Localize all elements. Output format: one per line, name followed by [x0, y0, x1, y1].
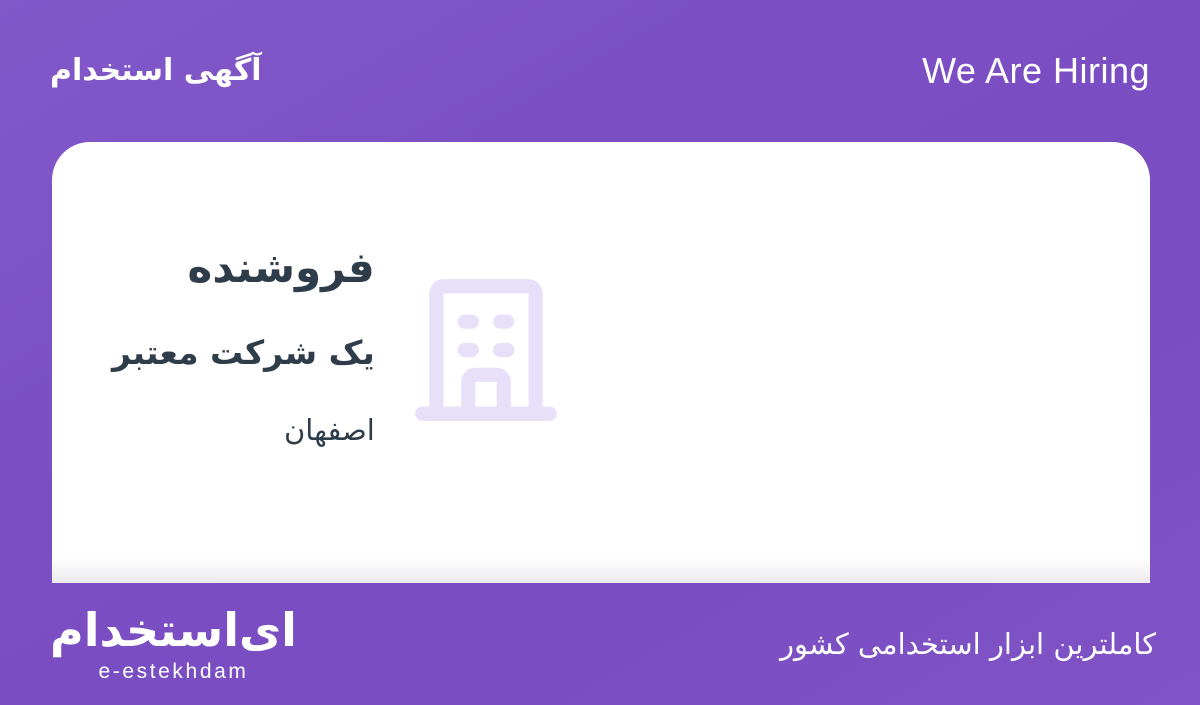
header-persian-title: آگهی استخدام: [50, 56, 262, 86]
footer-tagline: کاملترین ابزار استخدامی کشور: [780, 630, 1156, 659]
job-title: فروشنده: [112, 244, 375, 292]
brand-logo-persian: ای‌استخدام: [50, 606, 297, 654]
header-english-title: We Are Hiring: [922, 53, 1150, 89]
company-logo-placeholder: [401, 265, 571, 461]
company-name: یک شرکت معتبر: [112, 334, 375, 372]
job-card-content: فروشنده یک شرکت معتبر اصفهان: [52, 142, 1150, 583]
job-ad-poster: We Are Hiring آگهی استخدام فروشنده یک شر…: [0, 0, 1200, 705]
job-city: اصفهان: [112, 414, 375, 447]
poster-footer: ای‌استخدام e-estekhdam کاملترین ابزار اس…: [0, 583, 1200, 705]
brand-logo-latin: e-estekhdam: [98, 661, 248, 682]
brand-logo: ای‌استخدام e-estekhdam: [50, 606, 297, 681]
job-details: فروشنده یک شرکت معتبر اصفهان: [112, 244, 375, 482]
poster-header: We Are Hiring آگهی استخدام: [0, 0, 1200, 142]
building-icon: [401, 265, 571, 435]
job-card: فروشنده یک شرکت معتبر اصفهان: [52, 142, 1150, 583]
